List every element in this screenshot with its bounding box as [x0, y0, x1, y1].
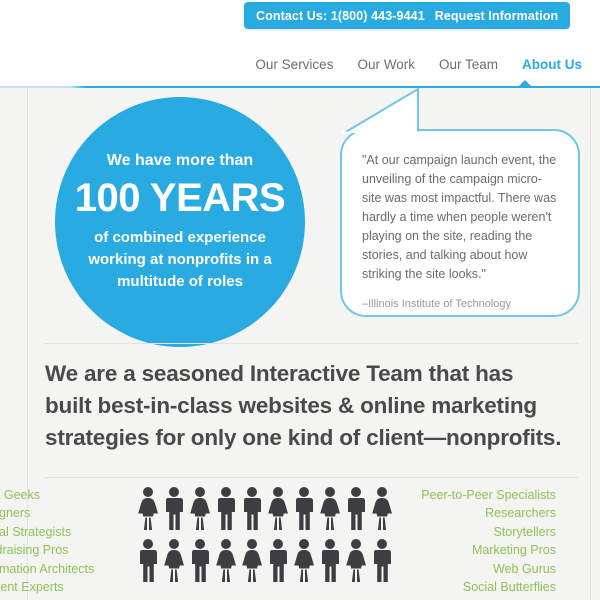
circle-line-sub: of combined experience working at nonpro…: [71, 227, 289, 292]
circle-line-top: We have more than: [107, 151, 253, 171]
person-male-icon: [135, 538, 161, 584]
role-item: Web Gurus: [421, 560, 556, 578]
role-item: Storytellers: [421, 523, 556, 541]
person-female-icon: [161, 538, 187, 584]
speech-bubble-tail-icon: [342, 87, 462, 133]
person-female-icon: [265, 486, 291, 532]
roles-list-left: Data Geeks Designers Digital Strategists…: [0, 486, 94, 596]
nav-item-our-team[interactable]: Our Team: [439, 57, 498, 72]
role-item: Designers: [0, 504, 94, 522]
testimonial-attribution: –Illinois Institute of Technology: [362, 298, 558, 310]
role-item: Fundraising Pros: [0, 541, 94, 559]
role-item: Researchers: [421, 504, 556, 522]
person-male-icon: [213, 486, 239, 532]
role-item: Marketing Pros: [421, 541, 556, 559]
page-root: Contact Us: 1(800) 443-9441 Request Info…: [0, 0, 600, 600]
roles-list-right: Peer-to-Peer Specialists Researchers Sto…: [421, 486, 556, 596]
person-male-icon: [161, 486, 187, 532]
testimonial-bubble: "At our campaign launch event, the unvei…: [340, 129, 580, 317]
person-male-icon: [265, 538, 291, 584]
person-female-icon: [317, 486, 343, 532]
nav-item-our-services[interactable]: Our Services: [255, 57, 333, 72]
nav-item-our-work[interactable]: Our Work: [357, 57, 415, 72]
person-male-icon: [343, 486, 369, 532]
experience-stat-circle: We have more than 100 YEARS of combined …: [55, 97, 305, 347]
page-headline: We are a seasoned Interactive Team that …: [45, 358, 565, 454]
contact-bar[interactable]: Contact Us: 1(800) 443-9441 Request Info…: [244, 2, 570, 29]
team-pictogram: [135, 486, 395, 584]
role-item: Data Geeks: [0, 486, 94, 504]
person-female-icon: [369, 486, 395, 532]
person-male-icon: [187, 538, 213, 584]
container-right-edge: [590, 88, 591, 600]
pictogram-row-1: [135, 486, 395, 532]
nav-item-about-us[interactable]: About Us: [522, 57, 582, 72]
circle-line-big: 100 YEARS: [75, 175, 285, 221]
divider-above-headline: [45, 343, 578, 344]
role-item: Digital Strategists: [0, 523, 94, 541]
main-content: We have more than 100 YEARS of combined …: [0, 88, 600, 600]
person-female-icon: [291, 538, 317, 584]
person-male-icon: [239, 486, 265, 532]
role-item: Peer-to-Peer Specialists: [421, 486, 556, 504]
person-male-icon: [317, 538, 343, 584]
request-information-link[interactable]: Request Information: [435, 9, 558, 23]
site-header: Contact Us: 1(800) 443-9441 Request Info…: [0, 0, 600, 88]
person-female-icon: [135, 486, 161, 532]
divider-below-headline: [45, 477, 578, 478]
person-female-icon: [343, 538, 369, 584]
testimonial-text: "At our campaign launch event, the unvei…: [362, 151, 558, 284]
pictogram-row-2: [135, 538, 395, 584]
person-female-icon: [187, 486, 213, 532]
person-male-icon: [369, 538, 395, 584]
person-female-icon: [239, 538, 265, 584]
person-male-icon: [291, 486, 317, 532]
role-item: Information Architects: [0, 560, 94, 578]
role-item: Social Butterflies: [421, 578, 556, 596]
role-item: Content Experts: [0, 578, 94, 596]
person-female-icon: [213, 538, 239, 584]
primary-navigation: Our Services Our Work Our Team About Us: [255, 57, 582, 72]
contact-phone-label[interactable]: Contact Us: 1(800) 443-9441: [256, 9, 425, 23]
